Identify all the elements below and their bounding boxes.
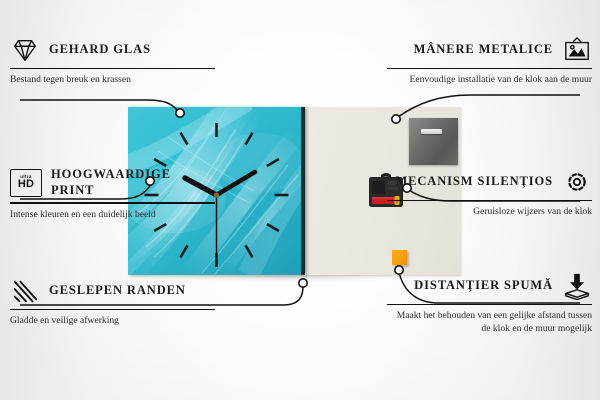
- clock-panel-edge: [301, 107, 305, 275]
- feature-header: GEHARD GLAS: [10, 36, 215, 64]
- picture-hanger-icon: [562, 36, 592, 64]
- ultra-hd-icon-main-label: HD: [18, 179, 34, 190]
- feature-foam-spacer: DISTANŢIER SPUMĂ Maakt het behouden van …: [387, 272, 592, 336]
- feature-description: Geruisloze wijzers van de klok: [387, 206, 592, 219]
- feature-header: MECANISM SILENŢIOS: [387, 168, 592, 196]
- feature-title: MÂNERE METALICE: [414, 42, 553, 58]
- feature-title: HOOGWAARDIGE PRINT: [51, 167, 215, 198]
- feature-header: MÂNERE METALICE: [387, 36, 592, 64]
- feature-title: DISTANŢIER SPUMĂ: [414, 278, 553, 294]
- foam-spacer-part: [392, 250, 407, 265]
- feature-divider: [10, 309, 215, 310]
- metal-hanger-plate: [409, 118, 458, 165]
- feature-divider: [387, 304, 592, 305]
- feature-description: Eenvoudige installatie van de klok aan d…: [387, 74, 592, 87]
- bevel-lines-icon: [10, 277, 40, 305]
- feature-divider: [10, 202, 215, 203]
- gear-icon: [562, 168, 592, 196]
- feature-header: DISTANŢIER SPUMĂ: [387, 272, 592, 300]
- feature-title: MECANISM SILENŢIOS: [395, 174, 553, 190]
- feature-divider: [387, 68, 592, 69]
- feature-divider: [10, 68, 215, 69]
- feature-silent-mechanism: MECANISM SILENŢIOS Geruisloze wijzers va…: [387, 168, 592, 219]
- feature-title: GESLEPEN RANDEN: [49, 283, 186, 299]
- feature-divider: [387, 200, 592, 201]
- feature-hd-print: ultra HD HOOGWAARDIGE PRINT Intense kleu…: [10, 167, 215, 221]
- feature-header: GESLEPEN RANDEN: [10, 277, 215, 305]
- feature-description: Gladde en veilige afwerking: [10, 315, 215, 328]
- feature-header: ultra HD HOOGWAARDIGE PRINT: [10, 167, 215, 198]
- feature-metal-handles: MÂNERE METALICE Eenvoudige installatie v…: [387, 36, 592, 87]
- hanger-slot: [421, 129, 442, 134]
- arrow-down-pad-icon: [562, 272, 592, 300]
- feature-description: Intense kleuren en een duidelijk beeld: [10, 209, 215, 222]
- diamond-icon: [10, 36, 40, 64]
- feature-title: GEHARD GLAS: [49, 42, 151, 58]
- feature-description: Maakt het behouden van een gelijke afsta…: [387, 310, 592, 335]
- ultra-hd-icon: ultra HD: [10, 169, 42, 197]
- feature-tempered-glass: GEHARD GLAS Bestand tegen breuk en krass…: [10, 36, 215, 87]
- feature-description: Bestand tegen breuk en krassen: [10, 74, 215, 87]
- infographic-root: +: [0, 0, 600, 400]
- feature-polished-edges: GESLEPEN RANDEN Gladde en veilige afwerk…: [10, 277, 215, 328]
